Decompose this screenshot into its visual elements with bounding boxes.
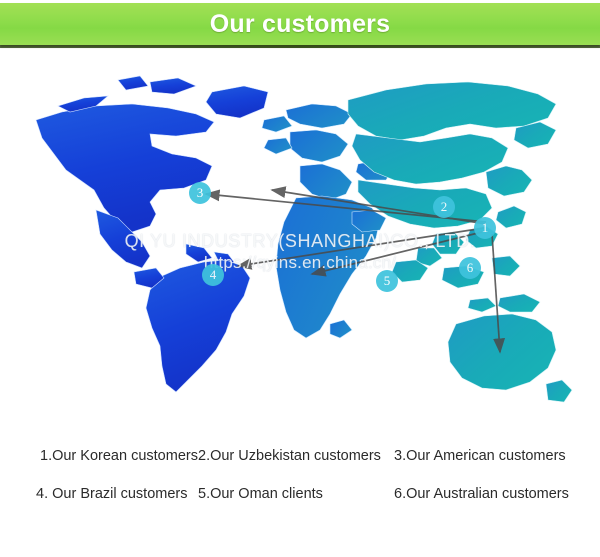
legend-item-1: 1.Our Korean customers: [0, 446, 198, 480]
map-marker-2[interactable]: 2: [433, 196, 455, 218]
page-header-banner: Our customers: [0, 3, 600, 45]
legend-item-3: 3.Our American customers: [394, 446, 600, 480]
legend-item-2: 2.Our Uzbekistan customers: [198, 446, 394, 480]
customer-legend: 1.Our Korean customers 2.Our Uzbekistan …: [0, 440, 600, 520]
world-map: QI YU INDUSTRY(SHANGHAI)CO., LTD. https:…: [0, 62, 600, 422]
legend-item-6: 6.Our Australian customers: [394, 484, 600, 518]
legend-row-1: 1.Our Korean customers 2.Our Uzbekistan …: [0, 446, 600, 480]
continent-south-america: [134, 260, 250, 392]
legend-row-2: 4. Our Brazil customers 5.Our Oman clien…: [0, 484, 600, 518]
map-marker-4[interactable]: 4: [202, 264, 224, 286]
map-marker-3[interactable]: 3: [189, 182, 211, 204]
map-marker-6[interactable]: 6: [459, 257, 481, 279]
continent-north-america: [36, 76, 268, 268]
legend-item-4: 4. Our Brazil customers: [0, 484, 198, 518]
map-marker-1[interactable]: 1: [474, 217, 496, 239]
continent-asia-oceania: [348, 82, 572, 402]
world-map-graphic: [0, 62, 600, 422]
map-marker-5[interactable]: 5: [376, 270, 398, 292]
legend-item-5: 5.Our Oman clients: [198, 484, 394, 518]
page-title: Our customers: [210, 3, 390, 45]
